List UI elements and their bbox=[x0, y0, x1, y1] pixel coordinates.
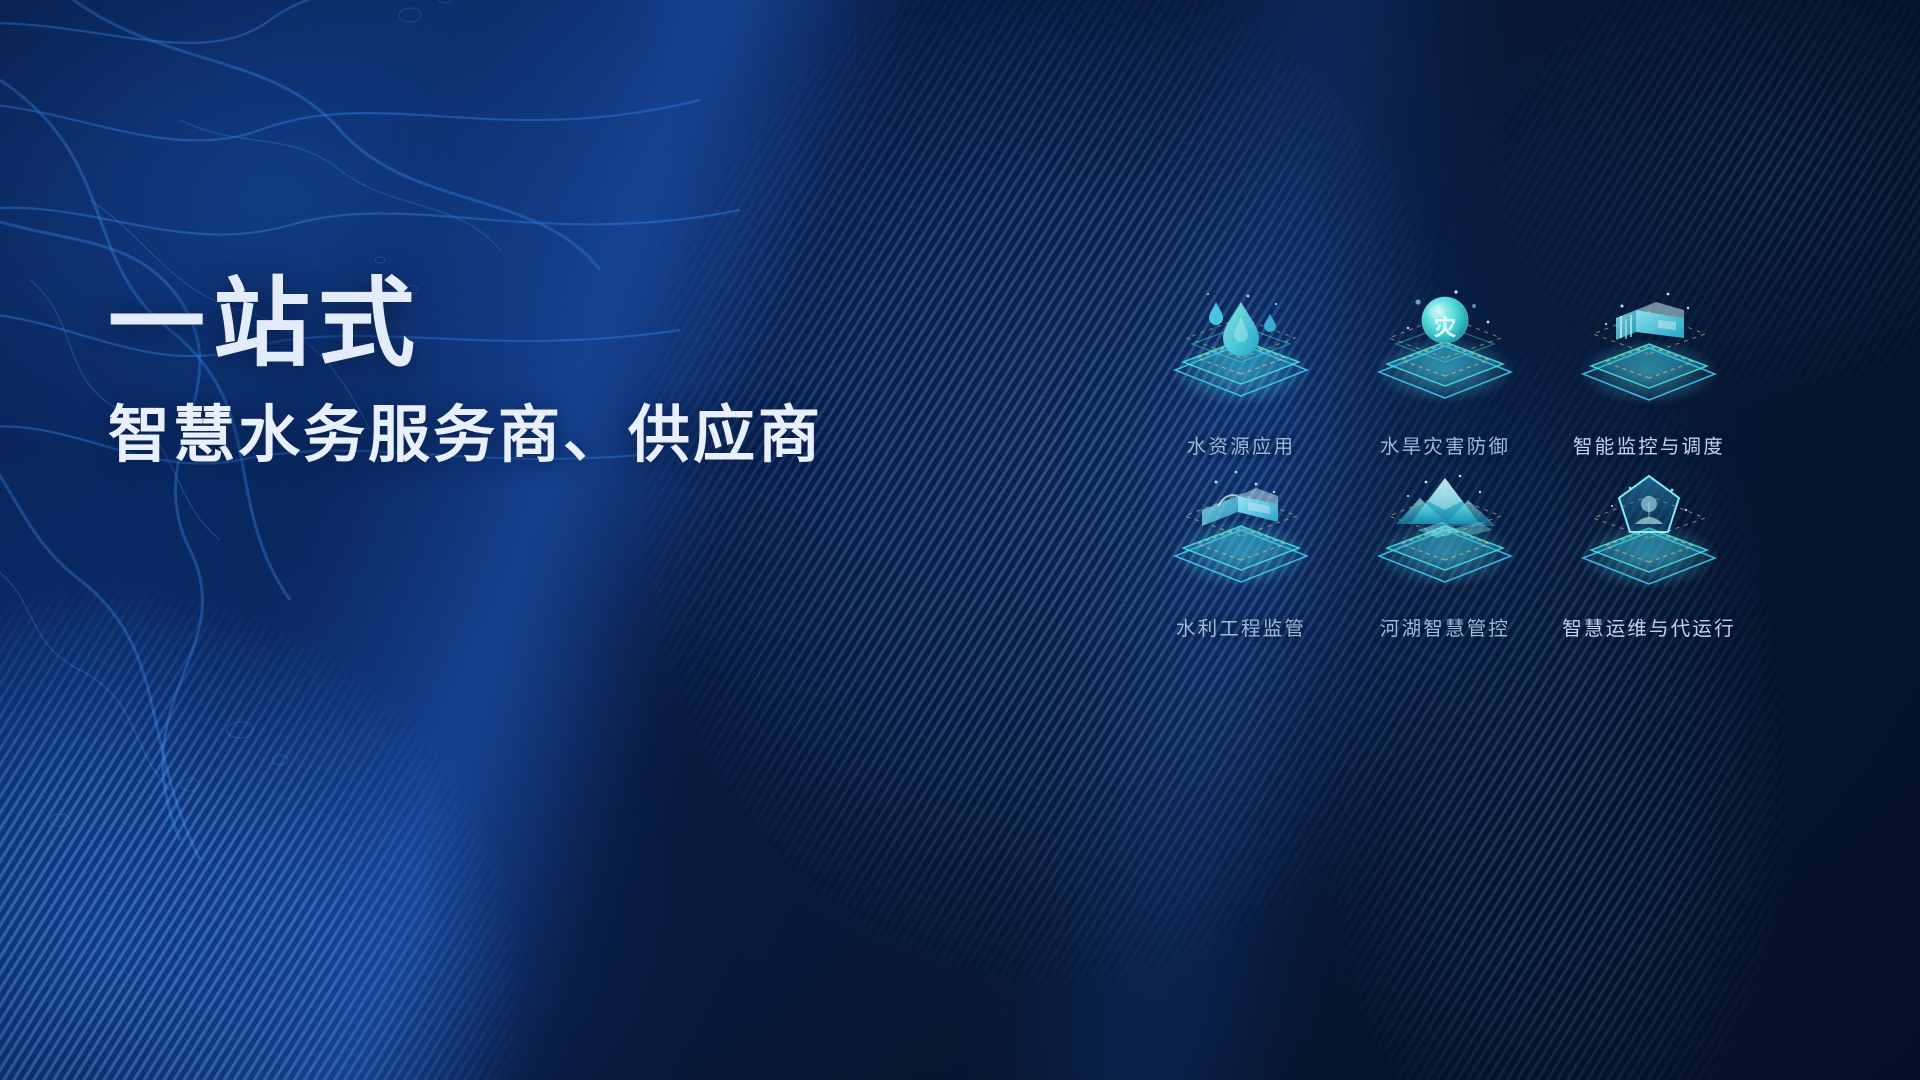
capability-card-water-conservancy-project-supervision[interactable]: 水利工程监管 bbox=[1152, 470, 1330, 652]
capability-label: 河湖智慧管控 bbox=[1380, 612, 1510, 641]
capability-grid: 水资源应用 bbox=[1152, 288, 1738, 652]
water-droplet-icon bbox=[1152, 288, 1330, 414]
disaster-sphere-character: 灾 bbox=[1434, 310, 1456, 342]
monitoring-console-icon bbox=[1560, 288, 1738, 414]
banner-canvas: 一站式 智慧水务服务商、供应商 bbox=[0, 0, 1920, 1080]
hero-text-block: 一站式 智慧水务服务商、供应商 bbox=[108, 272, 823, 470]
capability-label: 水旱灾害防御 bbox=[1380, 430, 1510, 459]
capability-card-water-resource-application[interactable]: 水资源应用 bbox=[1152, 288, 1330, 470]
capability-label: 智能监控与调度 bbox=[1573, 430, 1725, 459]
capability-card-smart-operation-maintenance[interactable]: 智慧运维与代运行 bbox=[1560, 470, 1738, 652]
page-title: 一站式 bbox=[108, 272, 823, 377]
disaster-sphere-icon: 灾 bbox=[1356, 288, 1534, 414]
shield-operations-icon bbox=[1560, 470, 1738, 596]
capability-card-river-lake-smart-control[interactable]: 河湖智慧管控 bbox=[1356, 470, 1534, 652]
capability-card-intelligent-monitoring-dispatch[interactable]: 智能监控与调度 bbox=[1560, 288, 1738, 470]
capability-label: 水利工程监管 bbox=[1176, 612, 1306, 641]
engineering-structure-icon bbox=[1152, 470, 1330, 596]
capability-label: 智慧运维与代运行 bbox=[1562, 612, 1736, 641]
light-streak-left bbox=[2, 0, 1018, 1080]
mountain-river-icon bbox=[1356, 470, 1534, 596]
capability-card-flood-drought-disaster-defense[interactable]: 灾 水旱灾害防御 bbox=[1356, 288, 1534, 470]
capability-label: 水资源应用 bbox=[1187, 430, 1296, 459]
page-subtitle: 智慧水务服务商、供应商 bbox=[108, 401, 823, 470]
